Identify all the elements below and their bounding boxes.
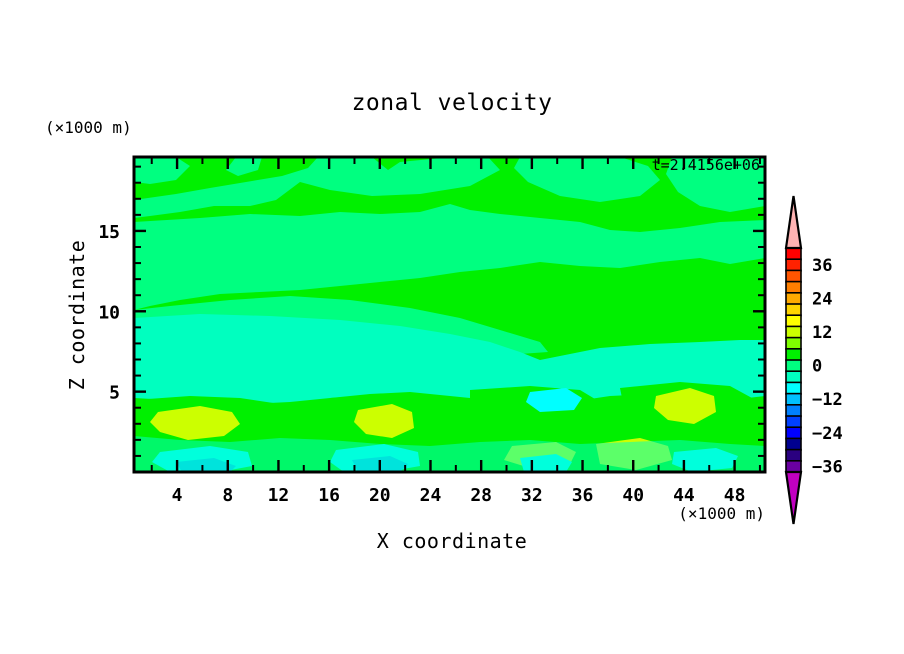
y-tick-label: 15 xyxy=(98,222,120,243)
colorbar-tick-label: −36 xyxy=(812,457,843,477)
colorbar-band[interactable] xyxy=(786,360,801,372)
colorbar-tick-label: −12 xyxy=(812,390,843,410)
time-annotation: t=2.4156e+06 xyxy=(652,156,760,174)
colorbar-band[interactable] xyxy=(786,338,801,350)
x-axis-title: X coordinate xyxy=(377,529,528,553)
x-tick-label: 20 xyxy=(369,485,391,506)
x-tick-label: 24 xyxy=(420,485,442,506)
x-axis-unit-label: (×1000 m) xyxy=(678,504,765,523)
colorbar-band[interactable] xyxy=(786,326,801,338)
colorbar-band[interactable] xyxy=(786,248,801,260)
y-tick-label: 5 xyxy=(109,383,120,404)
colorbar-band[interactable] xyxy=(786,259,801,271)
x-tick-label: 48 xyxy=(724,485,746,506)
colorbar-band[interactable] xyxy=(786,315,801,327)
colorbar-band[interactable] xyxy=(786,371,801,383)
colorbar-band[interactable] xyxy=(786,282,801,294)
y-axis-title: Z coordinate xyxy=(65,240,89,391)
colorbar-band[interactable] xyxy=(786,461,801,473)
colorbar-band[interactable] xyxy=(786,450,801,462)
x-tick-label: 44 xyxy=(673,485,695,506)
colorbar-band[interactable] xyxy=(786,349,801,361)
y-tick-label: 10 xyxy=(98,302,120,323)
colorbar-tick-label: −24 xyxy=(812,424,843,444)
plot-area: t=2.4156e+06 4812162024283236404448 5101… xyxy=(98,156,765,506)
colorbar-segments[interactable] xyxy=(786,248,801,472)
y-axis-unit-label: (×1000 m) xyxy=(45,118,132,137)
page-title: zonal velocity xyxy=(352,90,553,116)
x-tick-label: 36 xyxy=(572,485,594,506)
colorbar-band[interactable] xyxy=(786,405,801,417)
x-tick-label: 32 xyxy=(521,485,543,506)
colorbar-band[interactable] xyxy=(786,270,801,282)
colorbar-band[interactable] xyxy=(786,427,801,439)
colorbar-tick-label: 0 xyxy=(812,357,822,377)
x-tick-label: 16 xyxy=(318,485,340,506)
colorbar-band[interactable] xyxy=(786,438,801,450)
contour-figure: zonal velocity (×1000 m) xyxy=(0,0,904,654)
x-tick-label: 4 xyxy=(172,485,183,506)
colorbar-band[interactable] xyxy=(786,416,801,428)
x-tick-label: 28 xyxy=(470,485,492,506)
colorbar-band[interactable] xyxy=(786,293,801,305)
colorbar-tick-label: 12 xyxy=(812,323,832,343)
colorbar-tick-label: 24 xyxy=(812,289,832,309)
contour-field xyxy=(134,157,765,472)
x-tick-label: 12 xyxy=(268,485,290,506)
colorbar-band[interactable] xyxy=(786,394,801,406)
colorbar-tick-label: 36 xyxy=(812,256,832,276)
colorbar-band[interactable] xyxy=(786,304,801,316)
x-tick-label: 8 xyxy=(222,485,233,506)
x-tick-label: 40 xyxy=(622,485,644,506)
colorbar-band[interactable] xyxy=(786,382,801,394)
